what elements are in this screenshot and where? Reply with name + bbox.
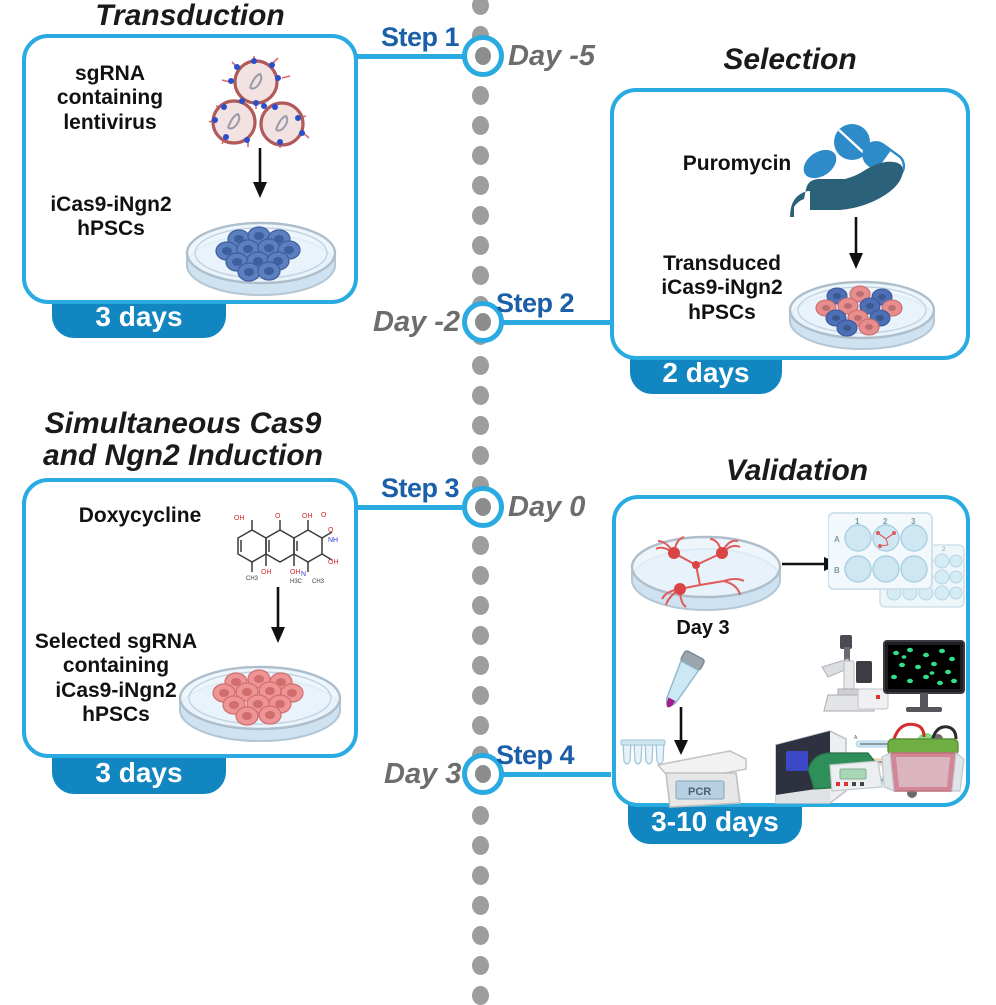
connector-step-4 — [486, 772, 611, 777]
timeline-dot — [472, 536, 489, 555]
plate-col-3: 3 — [911, 517, 916, 526]
timeline-dot — [472, 356, 489, 375]
timeline-dot — [472, 0, 489, 15]
marker-dot — [475, 498, 491, 516]
timeline-dot — [472, 116, 489, 135]
panel-transduction: sgRNA containing lentivirus iCas9-iNgn2 … — [22, 34, 358, 304]
panel-selection: Puromycin Transduced iCas9-iNgn2 hPSCs — [610, 88, 970, 360]
duration-badge-induction: 3 days — [52, 752, 226, 794]
svg-text:OH: OH — [302, 513, 313, 520]
timeline-dot — [472, 806, 489, 825]
step-label-2: Step 2 — [496, 288, 574, 319]
gel-electrophoresis-tank-icon — [870, 715, 966, 803]
svg-text:OH: OH — [234, 515, 245, 522]
day-label-2: Day -2 — [373, 306, 460, 339]
petri-dish-blue-cells-icon — [181, 193, 341, 301]
pcr-machine-label: PCR — [688, 786, 711, 798]
svg-text:CH3: CH3 — [312, 579, 325, 584]
monitor-green-cells-icon — [882, 639, 966, 719]
label-doxycycline: Doxycycline — [60, 504, 220, 528]
hand-holding-pills-icon — [786, 112, 914, 224]
timeline-marker-step-1[interactable] — [462, 35, 504, 77]
label-puromycin: Puromycin — [672, 152, 802, 176]
timeline-dot — [472, 416, 489, 435]
svg-text:O: O — [275, 513, 281, 520]
timeline-dot — [472, 716, 489, 735]
step-label-1: Step 1 — [381, 22, 459, 53]
timeline-dot — [472, 596, 489, 615]
multiwell-plates-icon: 12 1 2 3 A B — [828, 509, 968, 621]
panel-title-induction: Simultaneous Cas9 and Ngn2 Induction — [18, 408, 348, 473]
timeline-dot — [472, 206, 489, 225]
step-label-3: Step 3 — [381, 473, 459, 504]
timeline-dot — [472, 386, 489, 405]
panel-validation: Day 3 12 — [612, 495, 970, 807]
timeline-dot — [472, 956, 489, 975]
panel-title-transduction: Transduction — [20, 0, 360, 32]
timeline-dot — [472, 176, 489, 195]
svg-text:CH3: CH3 — [246, 576, 259, 582]
panel-title-validation: Validation — [612, 455, 982, 487]
day-label-1: Day -5 — [508, 40, 595, 73]
panel-induction: Doxycycline Selected sgRNA containing iC… — [22, 478, 358, 758]
plate-row-b: B — [834, 566, 840, 575]
timeline-dot — [472, 86, 489, 105]
label-sgrna-lentivirus: sgRNA containing lentivirus — [40, 62, 180, 135]
svg-text:N: N — [301, 571, 306, 578]
timeline-dot — [472, 266, 489, 285]
timeline-dot — [472, 686, 489, 705]
plate-row-a: A — [834, 535, 840, 544]
marker-dot — [475, 313, 491, 331]
timeline-dot — [472, 146, 489, 165]
marker-dot — [475, 47, 491, 65]
day-label-3: Day 0 — [508, 491, 585, 524]
petri-dish-mixed-cells-icon — [782, 254, 942, 354]
workflow-diagram: Step 1 Day -5 Step 2 Day -2 Step 3 Day 0… — [0, 0, 996, 996]
plate-col-1: 1 — [855, 517, 860, 526]
connector-step-2 — [486, 320, 611, 325]
timeline-dot — [472, 656, 489, 675]
lentivirus-particles-icon — [202, 56, 322, 148]
dish-caption-day3: Day 3 — [658, 617, 748, 640]
label-transduced-hpscs: Transduced iCas9-iNgn2 hPSCs — [646, 252, 798, 325]
step-label-4: Step 4 — [496, 740, 574, 771]
panel-title-selection: Selection — [610, 44, 970, 76]
fluorescence-microscope-icon — [814, 633, 892, 721]
timeline-marker-step-3[interactable] — [462, 486, 504, 528]
svg-text:OH: OH — [290, 569, 301, 576]
svg-text:OH: OH — [261, 569, 272, 576]
svg-text:O: O — [321, 512, 327, 519]
svg-text:O: O — [328, 527, 334, 534]
label-selected-sgrna-hpscs: Selected sgRNA containing iCas9-iNgn2 hP… — [32, 630, 200, 727]
plate-col-2: 2 — [883, 517, 888, 526]
svg-text:OH: OH — [328, 559, 339, 566]
timeline-dot — [472, 866, 489, 885]
timeline-dot — [472, 896, 489, 915]
down-arrow-icon — [248, 148, 272, 198]
doxycycline-molecule-icon: OHOOH OOOH OHOH NHN CH3H3CCH3 — [228, 504, 340, 584]
svg-text:NH: NH — [328, 537, 338, 544]
petri-dish-neurons-icon — [626, 513, 786, 621]
timeline-dot — [472, 926, 489, 945]
label-icas9-ingn2-hpscs: iCas9-iNgn2 hPSCs — [36, 193, 186, 242]
marker-dot — [475, 765, 491, 783]
timeline-dot — [472, 626, 489, 645]
day-label-4: Day 3 — [384, 758, 461, 791]
timeline-dot — [472, 566, 489, 585]
pcr-thermocycler-icon: PCR — [652, 743, 750, 811]
timeline-dot — [472, 836, 489, 855]
svg-text:H3C: H3C — [290, 579, 303, 584]
timeline-dot — [472, 236, 489, 255]
timeline-dot — [472, 446, 489, 465]
